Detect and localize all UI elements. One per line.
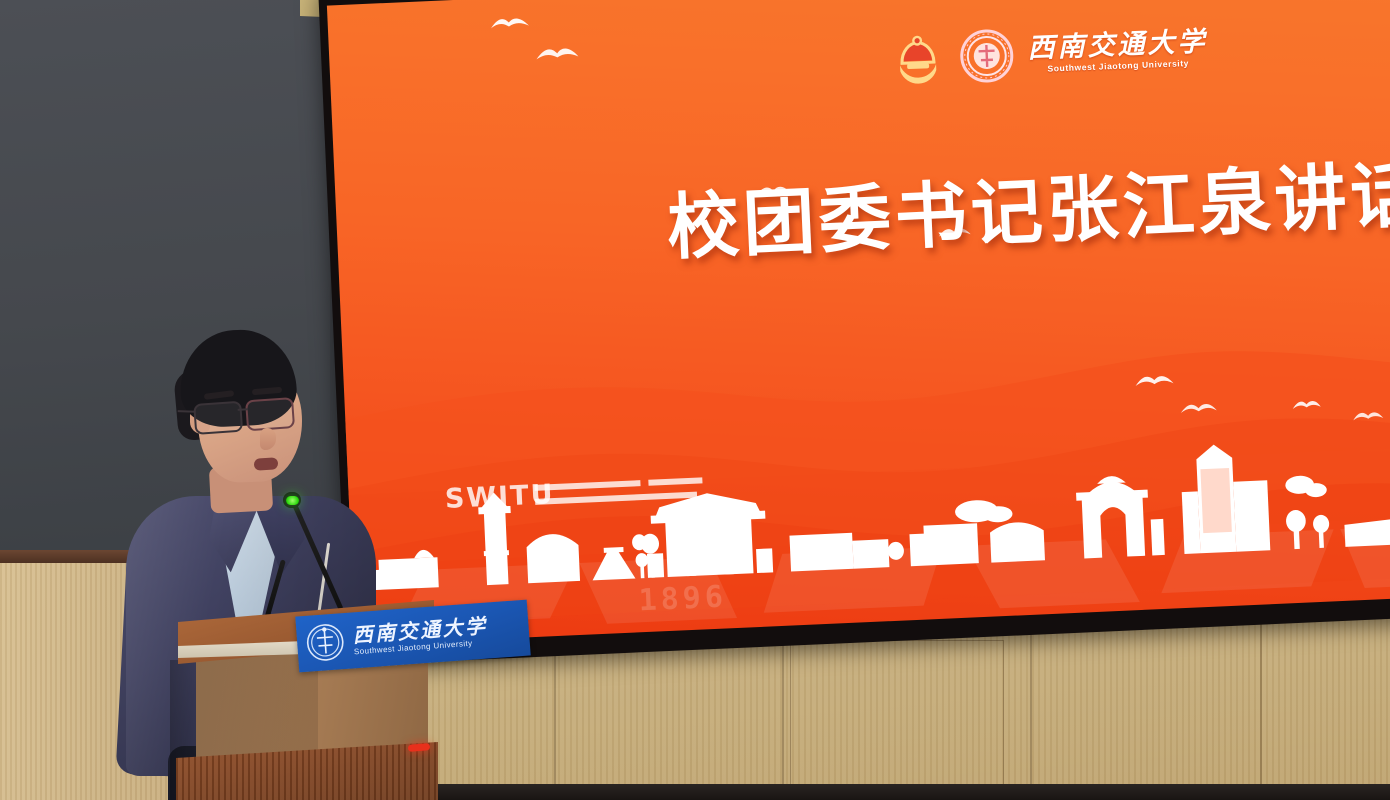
screenshot-stage: 西南交通大学 Southwest Jiaotong University 校团委… (0, 0, 1390, 800)
eyeglass-lens-left (193, 401, 243, 435)
founding-year-watermark: 1896 (638, 579, 728, 618)
screen-wordmark: 西南交通大学 Southwest Jiaotong University (1027, 28, 1208, 74)
wordmark-chinese: 西南交通大学 (1027, 28, 1208, 62)
bird-icon (1179, 400, 1218, 417)
podium-seal-icon (305, 622, 346, 663)
bird-icon (1291, 398, 1322, 412)
eyeglass-lens-right (245, 397, 295, 431)
panel-seam (782, 632, 784, 800)
bird-icon (1134, 372, 1175, 390)
bird-icon (490, 15, 531, 33)
wall-access-panel (790, 640, 1004, 792)
panel-seam (1260, 608, 1262, 800)
led-screen: 西南交通大学 Southwest Jiaotong University 校团委… (327, 0, 1390, 645)
communist-youth-league-emblem-icon (889, 30, 947, 88)
panel-seam (1030, 620, 1032, 800)
microphone-status-led[interactable] (286, 496, 299, 505)
bird-icon (535, 44, 580, 63)
slide-title: 校团委书记张江泉讲话 (664, 136, 1390, 274)
screen-logo-row: 西南交通大学 Southwest Jiaotong University (889, 19, 1209, 87)
baseboard (330, 784, 1390, 800)
podium-banner-text: 西南交通大学 Southwest Jiaotong University (352, 615, 489, 656)
speaker-mouth (254, 457, 279, 471)
swjtu-seal-icon (959, 28, 1015, 84)
led-screen-bezel: 西南交通大学 Southwest Jiaotong University 校团委… (318, 0, 1390, 665)
panel-seam (554, 646, 556, 800)
